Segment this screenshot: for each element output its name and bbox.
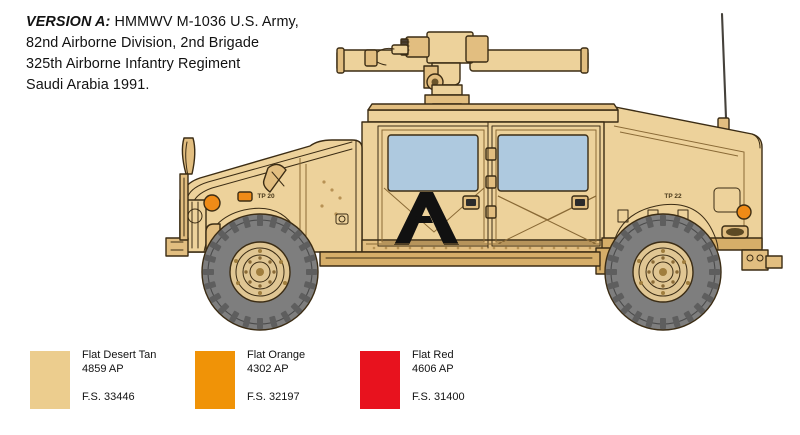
undercarriage: [320, 252, 600, 266]
front-bumper-marking: TP 20: [257, 193, 275, 200]
side-mirror: [182, 138, 194, 174]
hmmwv-side-profile-svg: .ol { stroke:#3B2C14; stroke-width:1.4; …: [0, 0, 800, 345]
swatch-fs-red: F.S. 31400: [412, 390, 465, 404]
swatch-fs-desert-tan: F.S. 33446: [82, 390, 135, 404]
vehicle-illustration: .ol { stroke:#3B2C14; stroke-width:1.4; …: [0, 0, 800, 345]
rear-body-marking: TP 22: [664, 193, 682, 200]
tow-missile-launcher: [337, 32, 588, 110]
swatch-chip-desert-tan: [30, 351, 70, 409]
front-door-window: [388, 135, 478, 191]
pintle-hook: [766, 256, 782, 268]
front-wheel: [202, 214, 318, 330]
front-marker-lamp: [204, 195, 220, 211]
swatch-chip-orange: [195, 351, 235, 409]
rear-wheel: [605, 214, 721, 330]
rear-marker-lamp: [737, 205, 751, 219]
rear-door-window: [498, 135, 588, 191]
swatch-name-red: Flat Red: [412, 348, 572, 362]
swatch-chip-red: [360, 351, 400, 409]
swatch-fs-orange: F.S. 32197: [247, 390, 300, 404]
front-turn-lamp: [238, 192, 252, 201]
swatch-code-red: 4606 AP: [412, 362, 572, 376]
rear-bumper: [742, 250, 768, 270]
paint-color-legend: Flat Desert Tan 4859 AP F.S. 33446 Flat …: [30, 348, 790, 418]
